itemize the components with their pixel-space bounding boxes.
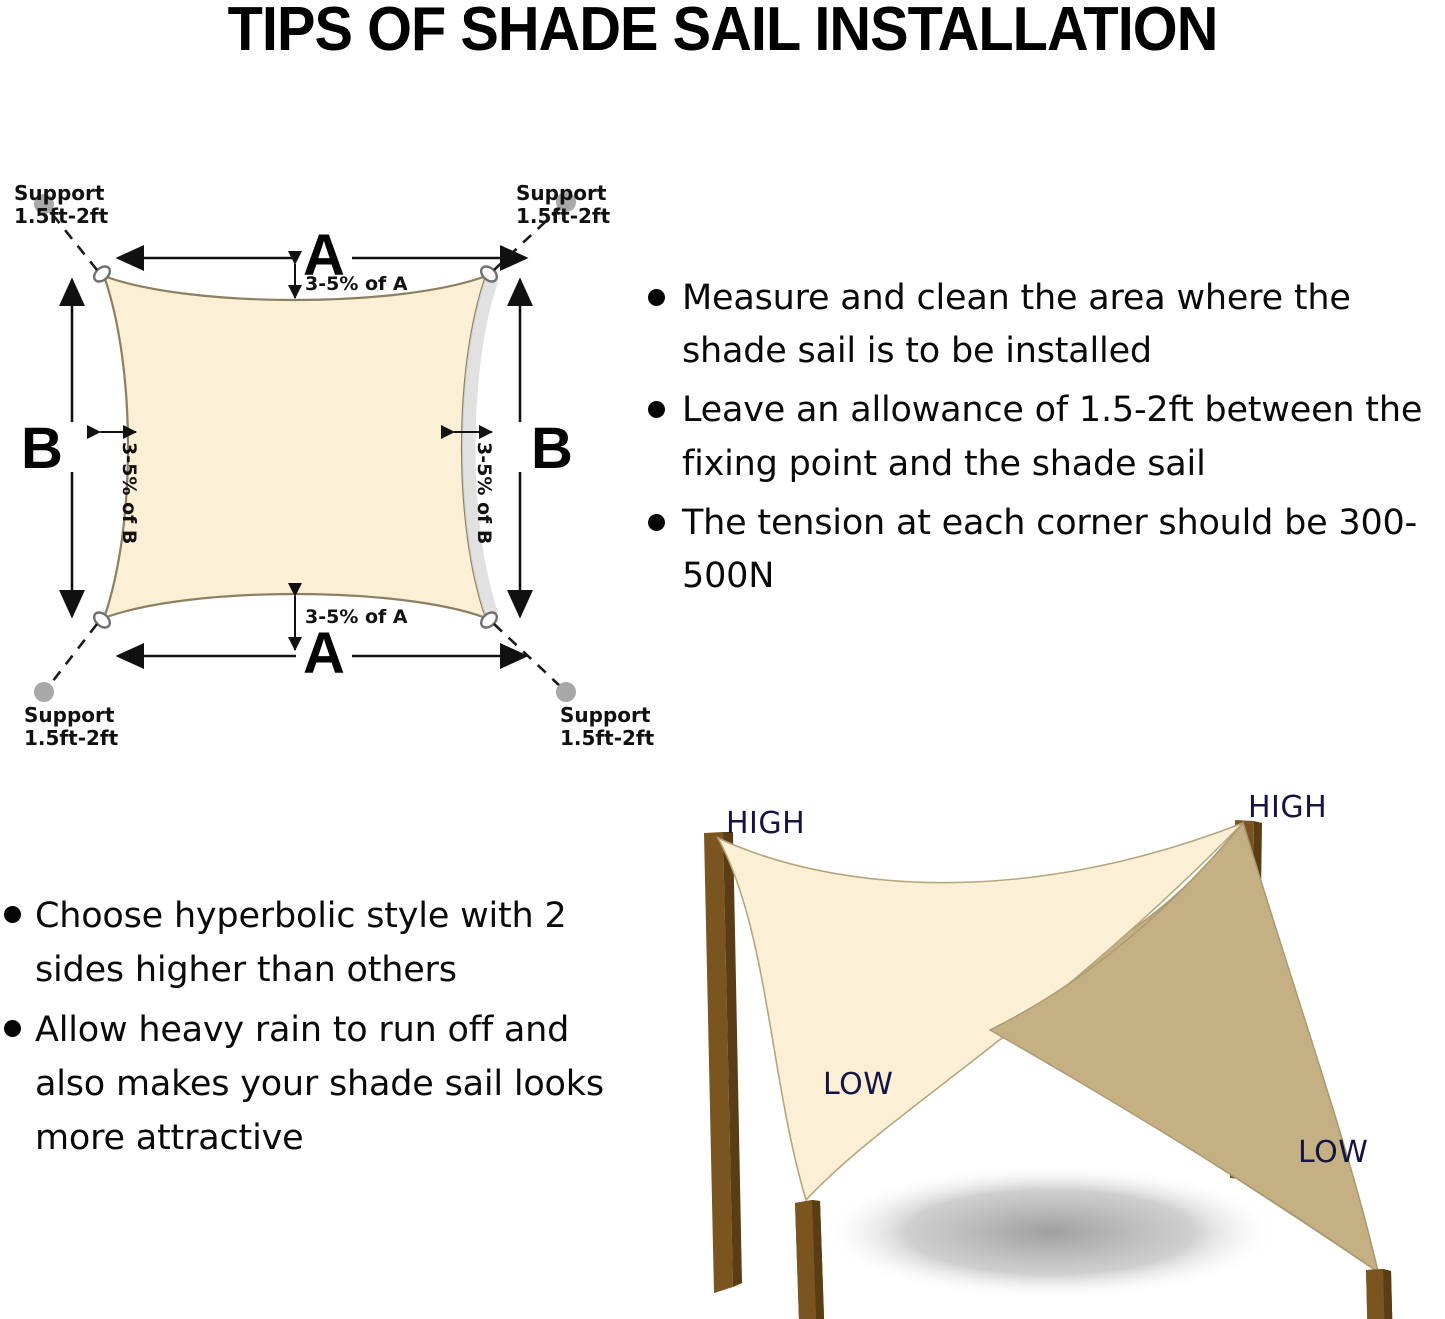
support-label-line1: Support <box>560 703 650 727</box>
support-label-bottom-right: Support 1.5ft-2ft <box>560 704 654 750</box>
list-item: Choose hyperbolic style with 2 sides hig… <box>4 890 629 998</box>
post-low-right-front <box>1366 1269 1398 1319</box>
list-item: Measure and clean the area where the sha… <box>648 272 1445 378</box>
support-label-top-right: Support 1.5ft-2ft <box>516 182 610 228</box>
tip-text: Leave an allowance of 1.5-2ft between th… <box>682 384 1445 490</box>
support-label-line2: 1.5ft-2ft <box>14 205 108 228</box>
tip-text: Measure and clean the area where the sha… <box>682 272 1445 378</box>
tip-text: Choose hyperbolic style with 2 sides hig… <box>35 890 629 998</box>
bullet-icon <box>4 1020 21 1037</box>
bullet-icon <box>648 514 665 531</box>
dimension-letter-b-right: B <box>531 416 573 481</box>
tips-list-bottom: Choose hyperbolic style with 2 sides hig… <box>4 890 629 1171</box>
support-label-line2: 1.5ft-2ft <box>516 205 610 228</box>
post-low-left-front <box>795 1200 826 1319</box>
sag-label-right: 3-5% of B <box>473 442 495 544</box>
list-item: The tension at each corner should be 300… <box>648 497 1445 603</box>
support-label-line2: 1.5ft-2ft <box>24 727 118 750</box>
tips-list-top: Measure and clean the area where the sha… <box>648 272 1445 609</box>
hyperbolic-sail-illustration: HIGH HIGH LOW LOW <box>660 780 1445 1319</box>
label-high-left: HIGH <box>726 806 805 841</box>
support-label-line2: 1.5ft-2ft <box>560 727 654 750</box>
bullet-icon <box>648 289 665 306</box>
infographic-page: TIPS OF SHADE SAIL INSTALLATION <box>0 0 1445 1319</box>
support-label-line1: Support <box>516 181 606 205</box>
sag-label-top: 3-5% of A <box>305 273 408 295</box>
ground-shadow <box>820 1164 1280 1300</box>
dimension-letter-a-bottom: A <box>303 621 345 686</box>
list-item: Allow heavy rain to run off and also mak… <box>4 1004 629 1166</box>
support-label-line1: Support <box>24 703 114 727</box>
tip-text: The tension at each corner should be 300… <box>682 497 1445 603</box>
label-high-right: HIGH <box>1248 790 1327 825</box>
sag-label-left: 3-5% of B <box>118 442 140 544</box>
list-item: Leave an allowance of 1.5-2ft between th… <box>648 384 1445 490</box>
bullet-icon <box>648 401 665 418</box>
tip-text: Allow heavy rain to run off and also mak… <box>35 1004 629 1166</box>
sag-label-bottom: 3-5% of A <box>305 606 408 628</box>
sail-fabric <box>104 276 486 618</box>
rectangular-sail-diagram: A A B B 3-5% of A 3-5% of A 3-5% of B 3-… <box>0 150 660 740</box>
dimension-letter-b-left: B <box>21 416 63 481</box>
support-label-bottom-left: Support 1.5ft-2ft <box>24 704 118 750</box>
label-low-right: LOW <box>1298 1135 1368 1170</box>
post-high-left <box>704 832 742 1293</box>
support-label-top-left: Support 1.5ft-2ft <box>14 182 108 228</box>
page-title: TIPS OF SHADE SAIL INSTALLATION <box>51 0 1395 65</box>
label-low-left: LOW <box>823 1067 893 1102</box>
support-label-line1: Support <box>14 181 104 205</box>
bullet-icon <box>4 906 21 923</box>
